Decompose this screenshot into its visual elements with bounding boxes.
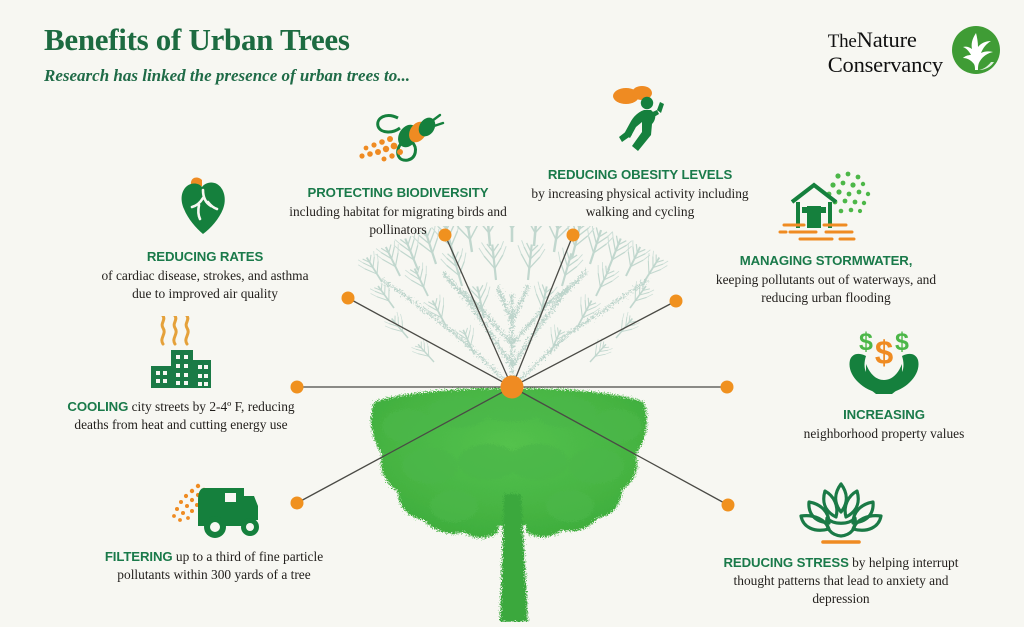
page-subtitle: Research has linked the presence of urba… xyxy=(44,66,410,86)
bare-branches-canopy xyxy=(356,226,670,387)
benefit-heading: REDUCING STRESS xyxy=(724,555,849,570)
logo[interactable]: TheNature Conservancy xyxy=(828,24,1002,81)
truck-exhaust-icon xyxy=(98,468,330,542)
benefit-body: including habitat for migrating birds an… xyxy=(289,204,507,237)
runner-icon xyxy=(528,86,752,160)
benefit-text: COOLING city streets by 2-4º F, reducing… xyxy=(62,398,300,434)
spoke-dot-increasing xyxy=(721,381,734,394)
benefit-body: neighborhood property values xyxy=(804,426,965,441)
svg-text:$: $ xyxy=(859,328,873,356)
green-foliage-canopy xyxy=(371,388,647,622)
benefit-filtering[interactable]: FILTERING up to a third of fine particle… xyxy=(98,468,330,584)
benefit-text: REDUCING RATESof cardiac disease, stroke… xyxy=(92,248,318,303)
logo-nature: Nature xyxy=(857,27,917,52)
benefit-reducing-stress[interactable]: REDUCING STRESS by helping interrupt tho… xyxy=(716,474,966,608)
house-rain-icon xyxy=(712,172,940,246)
urban-tree-illustration xyxy=(338,226,688,622)
svg-text:$: $ xyxy=(895,328,909,356)
logo-conservancy: Conservancy xyxy=(828,53,943,77)
logo-wordmark: TheNature Conservancy xyxy=(828,28,943,76)
benefit-managing-stormwater[interactable]: MANAGING STORMWATER,keeping pollutants o… xyxy=(712,172,940,307)
bee-icon xyxy=(284,104,512,178)
benefit-heading: PROTECTING BIODIVERSITY xyxy=(284,184,512,202)
page-title: Benefits of Urban Trees xyxy=(44,22,350,58)
globe-leaf-icon xyxy=(950,24,1002,81)
benefit-body: of cardiac disease, strokes, and asthma … xyxy=(101,268,308,301)
benefit-heading: MANAGING STORMWATER, xyxy=(712,252,940,270)
lotus-icon xyxy=(716,474,966,548)
benefit-text: PROTECTING BIODIVERSITYincluding habitat… xyxy=(284,184,512,239)
benefit-text: REDUCING STRESS by helping interrupt tho… xyxy=(716,554,966,608)
benefit-text: MANAGING STORMWATER,keeping pollutants o… xyxy=(712,252,940,307)
svg-text:$: $ xyxy=(875,334,893,371)
benefit-heading: COOLING xyxy=(67,399,128,414)
logo-the: The xyxy=(828,31,857,52)
city-heat-icon xyxy=(62,318,300,392)
benefit-heading: INCREASING xyxy=(768,406,1000,424)
infographic-canvas: Benefits of Urban Trees Research has lin… xyxy=(0,0,1024,622)
benefit-body: keeping pollutants out of waterways, and… xyxy=(716,272,936,305)
hands-money-icon: $ $ $ xyxy=(768,326,1000,400)
benefit-text: FILTERING up to a third of fine particle… xyxy=(98,548,330,584)
benefit-cooling[interactable]: COOLING city streets by 2-4º F, reducing… xyxy=(62,318,300,434)
benefit-protecting-biodiversity[interactable]: PROTECTING BIODIVERSITYincluding habitat… xyxy=(284,104,512,239)
benefit-heading: REDUCING RATES xyxy=(92,248,318,266)
benefit-text: INCREASINGneighborhood property values xyxy=(768,406,1000,443)
benefit-increasing[interactable]: $ $ $ INCREASINGneighborhood property va… xyxy=(768,326,1000,443)
benefit-heading: FILTERING xyxy=(105,549,173,564)
